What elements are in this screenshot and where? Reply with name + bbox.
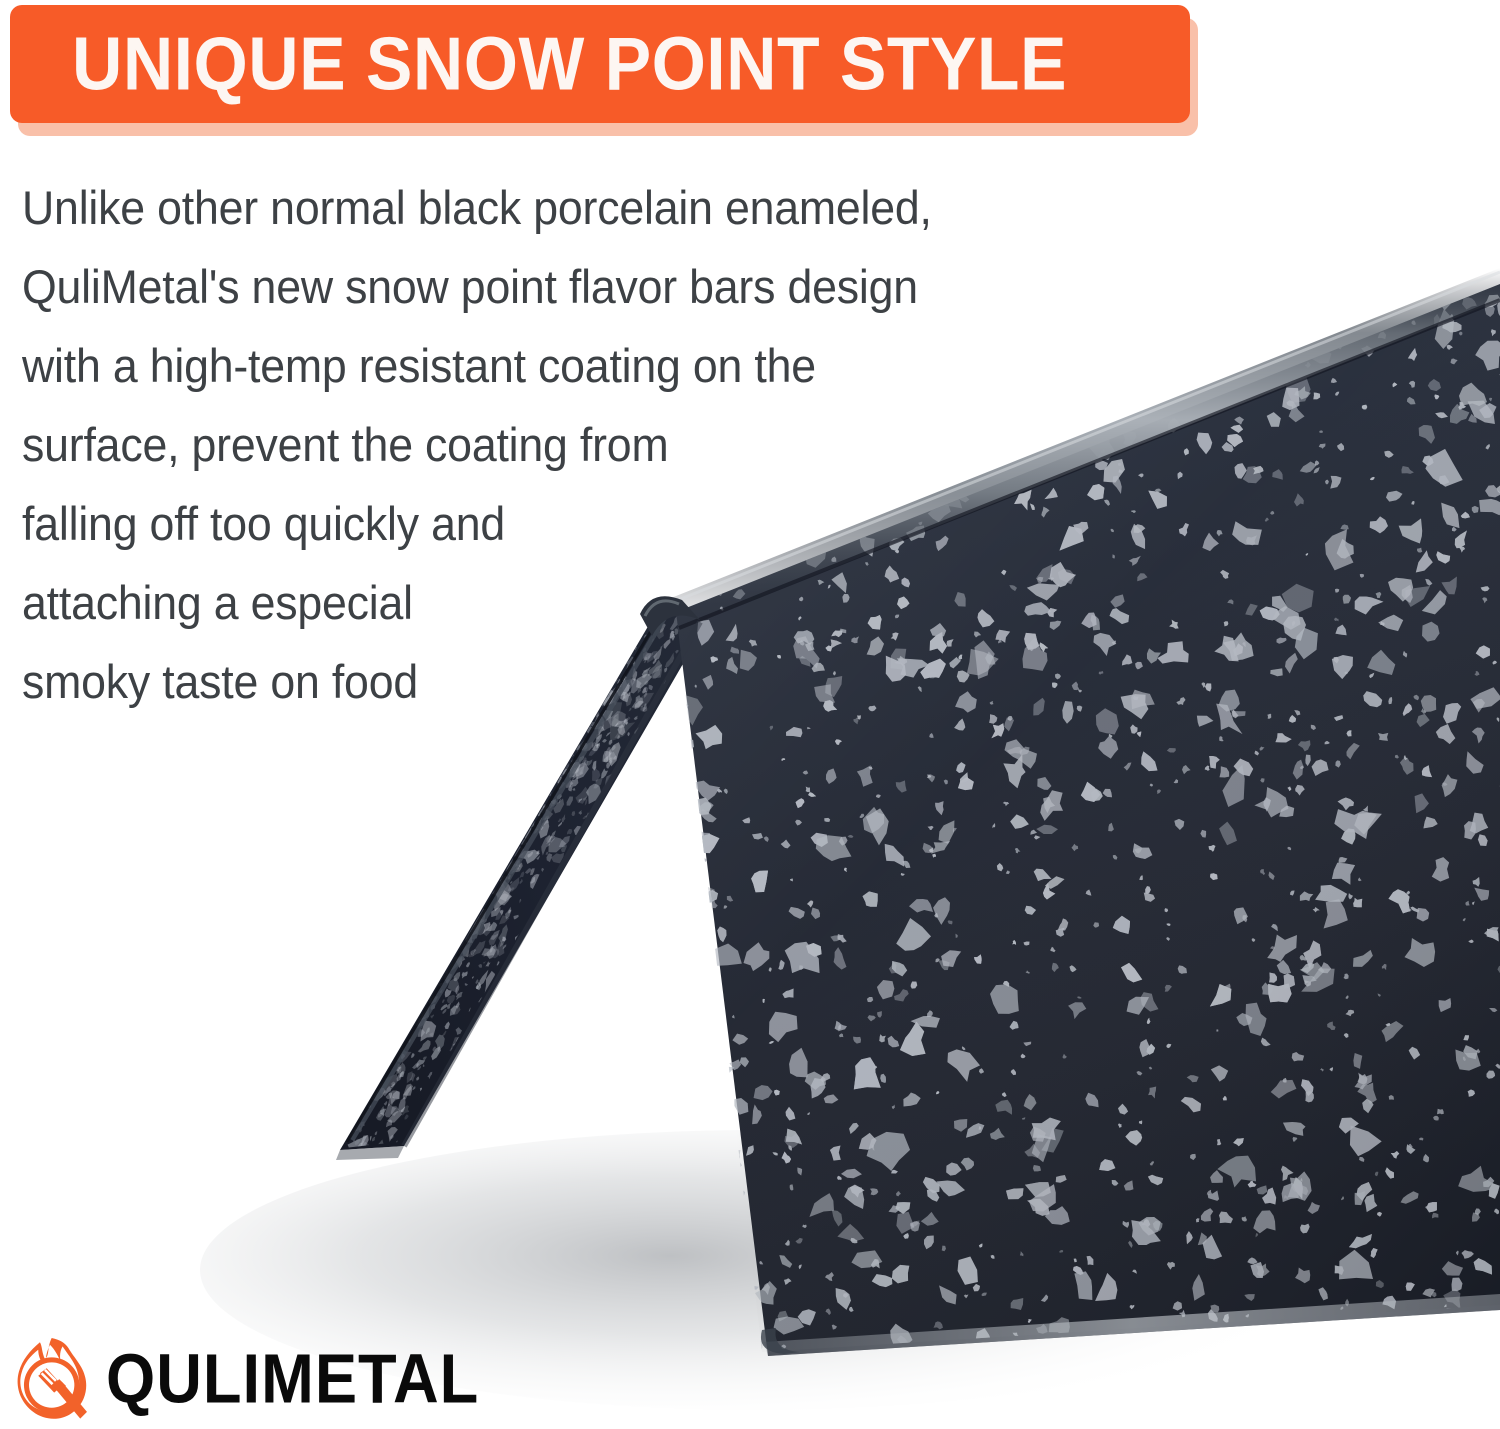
body-line: surface, prevent the coating from [22, 405, 1010, 484]
banner-background: UNIQUE SNOW POINT STYLE [10, 5, 1190, 123]
body-line: smoky taste on food [22, 642, 1010, 721]
brand-logo: QULIMETAL [8, 1336, 472, 1424]
body-line: attaching a especial [22, 563, 1010, 642]
banner-title: UNIQUE SNOW POINT STYLE [72, 27, 1067, 102]
body-line: with a high-temp resistant coating on th… [22, 326, 1010, 405]
body-line: falling off too quickly and [22, 484, 1010, 563]
body-paragraph: Unlike other normal black porcelain enam… [22, 168, 1062, 721]
flame-fork-icon [8, 1336, 92, 1424]
product-bottom-rim [764, 1294, 1500, 1356]
body-line: QuliMetal's new snow point flavor bars d… [22, 247, 1010, 326]
logo-wordmark: QULIMETAL [106, 1345, 479, 1414]
header-banner: UNIQUE SNOW POINT STYLE [10, 5, 1190, 123]
product-bottom-corner [761, 1328, 800, 1354]
body-line: Unlike other normal black porcelain enam… [22, 168, 1010, 247]
product-marketing-image: UNIQUE SNOW POINT STYLE Unlike other nor… [0, 0, 1500, 1429]
